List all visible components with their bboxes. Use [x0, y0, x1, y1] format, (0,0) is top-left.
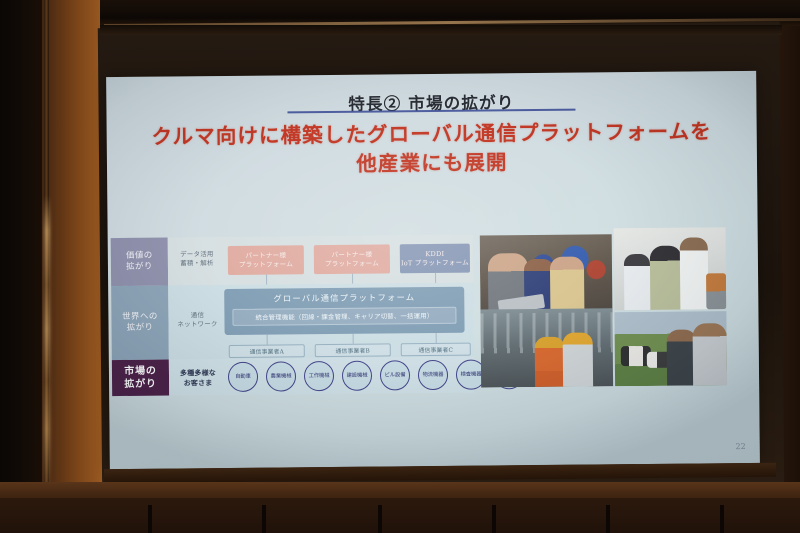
industry-circle-machine-tool: 工作機械 [304, 361, 334, 391]
floor-slot-3 [378, 505, 382, 533]
floor-slot-4 [492, 505, 496, 533]
floor-slot-5 [606, 505, 610, 533]
connector-carrier-b-up [353, 334, 354, 344]
wheelchair-object [706, 273, 726, 309]
floor-area [0, 498, 800, 533]
carrier-box-c: 通信事業者C [401, 343, 471, 357]
partner-platform-box-1: パートナー様プラットフォーム [228, 245, 304, 275]
connector-kddi-down [435, 273, 436, 283]
warehouse-worker-1 [535, 337, 565, 387]
photo-warehouse-workers [480, 308, 613, 387]
global-communication-platform-box: グローバル通信プラットフォーム 統合管理機能（回線・課金管理、キャリア切替、一括… [224, 287, 464, 335]
partner-platform-box-2: パートナー様プラットフォーム [314, 244, 390, 274]
carrier-box-a: 通信事業者A [229, 344, 305, 358]
connector-partner2-down [352, 274, 353, 284]
left-wall-shadow [0, 0, 42, 533]
row-body-value: データ活用蓄積・解析 パートナー様プラットフォーム パートナー様プラットフォーム… [168, 235, 473, 286]
axis-note-market: 多種多様なお客さま [173, 368, 223, 389]
projection-screen-roller [100, 25, 782, 35]
photo-farm-cattle [614, 311, 727, 386]
row-label-value: 価値の拡がり [111, 238, 168, 287]
row-body-world: 通信ネットワーク グローバル通信プラットフォーム 統合管理機能（回線・課金管理、… [168, 283, 474, 360]
diagram-row-value: 価値の拡がり データ活用蓄積・解析 パートナー様プラットフォーム パートナー様プ… [111, 235, 473, 286]
kddi-iot-platform-box: KDDIIoT プラットフォーム [400, 244, 470, 274]
industry-circle-building: ビル設備 [380, 360, 410, 390]
diagram-row-market: 市場の拡がり 多種多様なお客さま 自動車 農業機械 工作機械 建設機械 ビル設備… [112, 357, 474, 396]
connector-carrier-c-up [436, 333, 437, 343]
presentation-slide: 特長② 市場の拡がり クルマ向けに構築したグローバル通信プラットフォームを 他産… [106, 71, 760, 469]
conference-room-scene: 特長② 市場の拡がり クルマ向けに構築したグローバル通信プラットフォームを 他産… [0, 0, 800, 533]
warehouse-worker-2 [563, 332, 594, 386]
global-platform-title: グローバル通信プラットフォーム [224, 291, 464, 305]
connector-carrier-a-up [267, 335, 268, 345]
row-body-market: 多種多様なお客さま 自動車 農業機械 工作機械 建設機械 ビル設備 物流機器 検… [169, 357, 474, 396]
industry-circle-construction: 建設機械 [342, 361, 372, 391]
family-figure-2 [650, 246, 683, 310]
floor-slot-1 [148, 505, 152, 533]
diagram-row-world: 世界への拡がり 通信ネットワーク グローバル通信プラットフォーム 統合管理機能（… [111, 283, 474, 360]
floor-slot-6 [720, 505, 724, 533]
row-label-market: 市場の拡がり [112, 360, 169, 397]
floor-slot-2 [262, 505, 266, 533]
axis-note-value: データ活用蓄積・解析 [172, 250, 222, 269]
axis-note-world: 通信ネットワーク [172, 311, 222, 330]
photo-family-children [614, 227, 727, 310]
industry-circle-logistics: 物流機器 [418, 360, 448, 390]
industry-circle-automotive: 自動車 [228, 362, 258, 392]
family-figure-3 [680, 237, 709, 309]
industry-circle-agriculture: 農業機械 [266, 361, 296, 391]
connector-partner1-down [266, 275, 267, 285]
ambient-light-strip [44, 195, 50, 495]
farmer-figure-2 [693, 323, 728, 385]
wall-base-ledge [0, 482, 800, 498]
row-label-world: 世界への拡がり [111, 286, 169, 361]
integrated-management-function-box: 統合管理機能（回線・課金管理、キャリア切替、一括運用） [232, 307, 456, 326]
page-number: 22 [735, 442, 745, 451]
slide-title: 特長② 市場の拡がり [106, 87, 756, 117]
photo-collage [480, 227, 728, 387]
platform-expansion-diagram: 価値の拡がり データ活用蓄積・解析 パートナー様プラットフォーム パートナー様プ… [111, 235, 475, 396]
headline-line-2: 他産業にも展開 [356, 150, 507, 175]
headline-line-1: クルマ向けに構築したグローバル通信プラットフォームを [151, 119, 711, 148]
family-figure-1 [624, 254, 651, 310]
carrier-box-b: 通信事業者B [315, 343, 391, 357]
slide-headline: クルマ向けに構築したグローバル通信プラットフォームを 他産業にも展開 [129, 117, 736, 181]
